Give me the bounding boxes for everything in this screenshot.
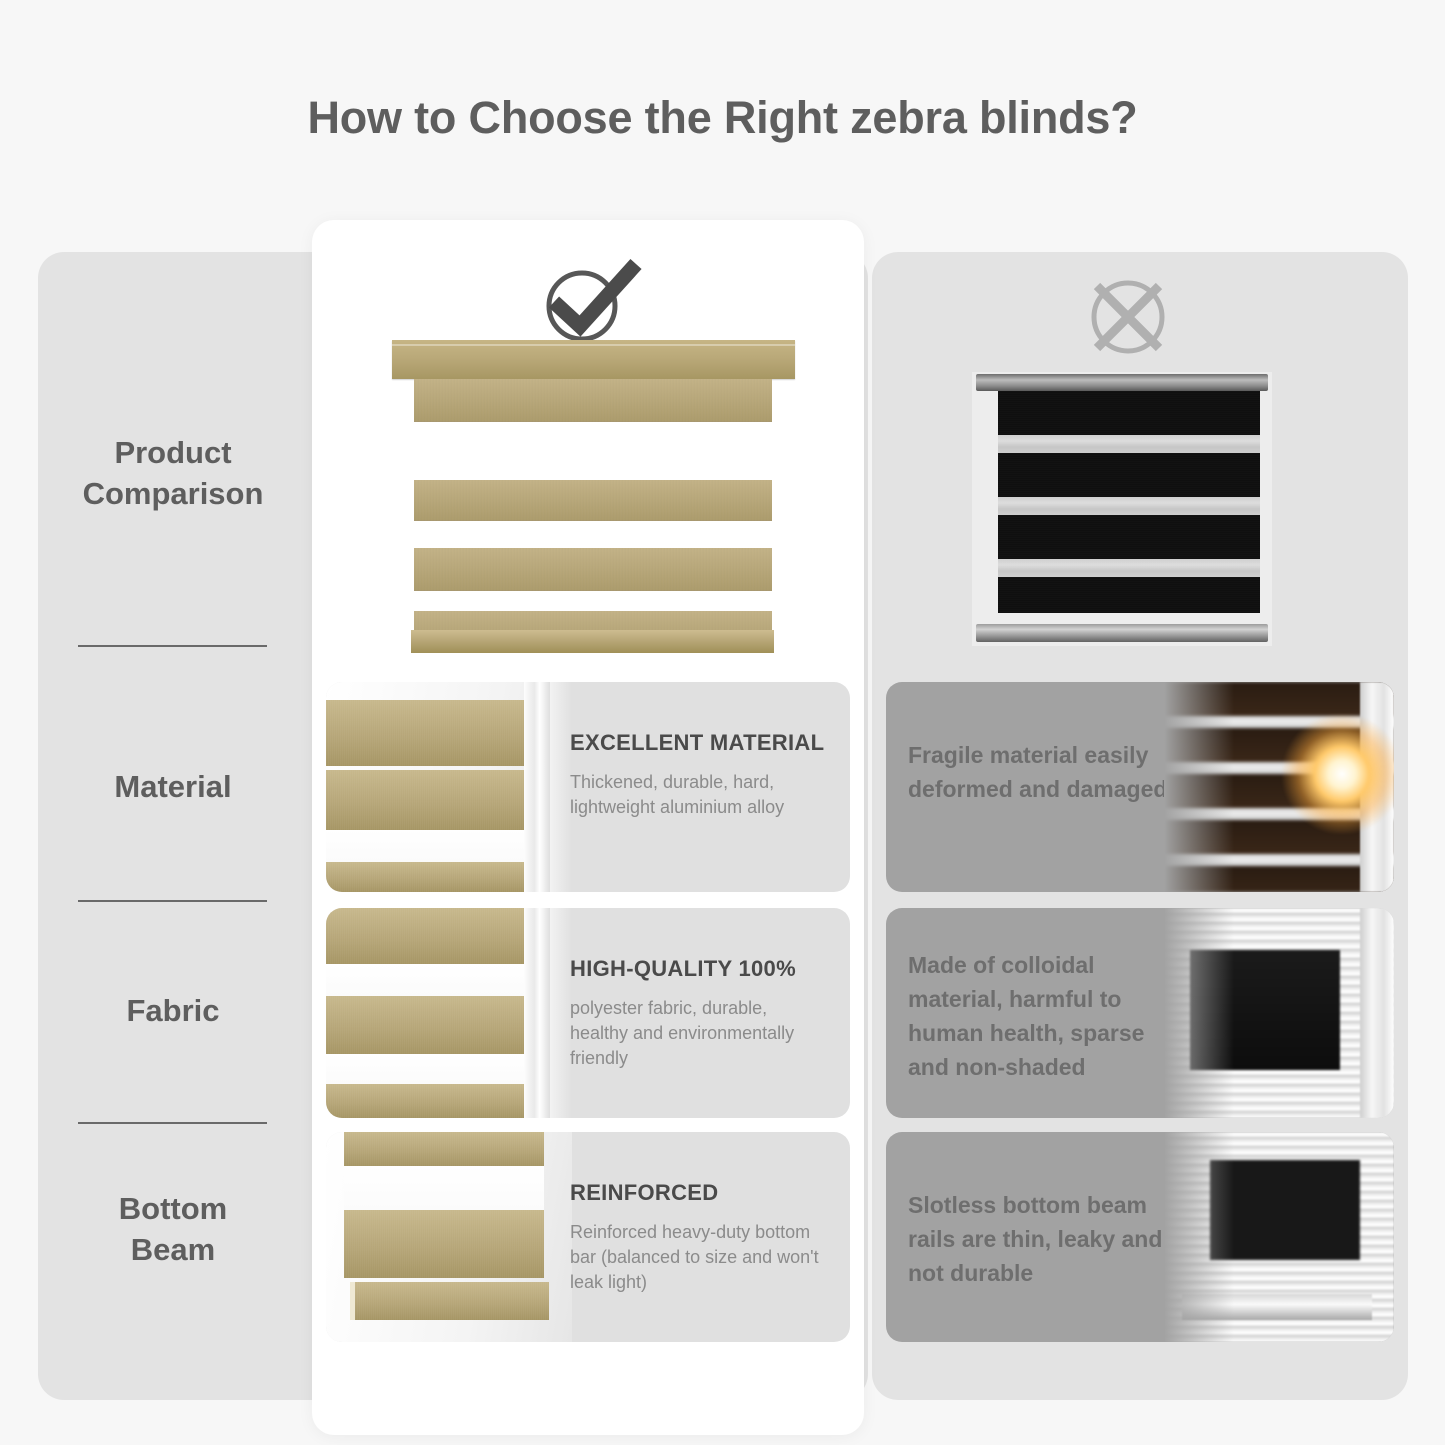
page-title: How to Choose the Right zebra blinds? <box>0 92 1445 144</box>
drawback-image-sunlit-window <box>1164 682 1394 892</box>
window-frame-edge <box>524 682 550 892</box>
cross-circle-icon <box>1083 272 1173 362</box>
blind-slat <box>414 379 772 422</box>
feature-body: Reinforced heavy-duty bottom bar (balanc… <box>570 1220 830 1295</box>
row-label-line1: Material <box>58 766 288 807</box>
row-label-product-comparison: Product Comparison <box>58 432 288 514</box>
blind-bottom-bar <box>411 630 774 653</box>
hero-image-tan-zebra-blind <box>392 340 795 665</box>
image-fade-mask <box>1164 682 1234 892</box>
blind-sheer <box>326 830 526 862</box>
blind-slat <box>326 1084 526 1118</box>
row-label-material: Material <box>58 766 288 807</box>
drawback-card-fabric: Made of colloidal material, harmful to h… <box>886 908 1394 1118</box>
row-divider <box>78 900 267 902</box>
blind-slat <box>326 908 526 964</box>
sun-glare <box>1282 714 1394 834</box>
feature-image-tan-blind <box>326 682 572 892</box>
blind-slat <box>326 862 526 892</box>
row-label-line1: Product <box>58 432 288 473</box>
feature-title: REINFORCED <box>570 1180 830 1206</box>
check-circle-icon <box>536 256 648 344</box>
feature-text-block: EXCELLENT MATERIAL Thickened, durable, h… <box>570 730 830 820</box>
feature-card-good-material: EXCELLENT MATERIAL Thickened, durable, h… <box>326 682 850 892</box>
drawback-text: Slotless bottom beam rails are thin, lea… <box>908 1188 1178 1290</box>
blind-slat <box>414 480 772 521</box>
feature-text-block: HIGH-QUALITY 100% polyester fabric, dura… <box>570 956 830 1071</box>
drawback-card-bottom-beam: Slotless bottom beam rails are thin, lea… <box>886 1132 1394 1342</box>
blind-slat <box>414 548 772 591</box>
drawback-card-material: Fragile material easily deformed and dam… <box>886 682 1394 892</box>
feature-image-tan-blind <box>326 908 572 1118</box>
blind-fabric <box>998 391 1260 613</box>
row-label-line1: Fabric <box>58 990 288 1031</box>
drawback-text: Made of colloidal material, harmful to h… <box>908 948 1178 1084</box>
blind-slat <box>344 1132 544 1166</box>
window-frame-edge <box>550 682 572 892</box>
feature-title: EXCELLENT MATERIAL <box>570 730 830 756</box>
row-divider <box>78 645 267 647</box>
drawback-image-thin-rail <box>1164 1132 1394 1342</box>
row-label-bottom-beam: Bottom Beam <box>58 1188 288 1270</box>
feature-image-bottom-bar <box>326 1132 572 1342</box>
blind-sheer <box>344 1166 544 1210</box>
blind-slat <box>344 1210 544 1278</box>
feature-body: Thickened, durable, hard, lightweight al… <box>570 770 830 820</box>
row-label-line1: Bottom <box>58 1188 288 1229</box>
row-label-fabric: Fabric <box>58 990 288 1031</box>
blind-sheer <box>326 1054 526 1084</box>
feature-body: polyester fabric, durable, healthy and e… <box>570 996 830 1071</box>
blind-headrail <box>976 374 1268 391</box>
blind-slat <box>326 770 526 830</box>
row-label-line2: Comparison <box>58 473 288 514</box>
blind-sheer <box>326 964 526 996</box>
row-label-line2: Beam <box>58 1229 288 1270</box>
feature-title: HIGH-QUALITY 100% <box>570 956 830 982</box>
blind-headrail <box>392 340 795 379</box>
blind-slat <box>326 700 526 766</box>
blind-bottom-bar <box>350 1282 549 1320</box>
window-frame-edge <box>550 908 572 1118</box>
image-fade-mask <box>1164 908 1234 1118</box>
feature-card-good-bottom-beam: REINFORCED Reinforced heavy-duty bottom … <box>326 1132 850 1342</box>
feature-text-block: REINFORCED Reinforced heavy-duty bottom … <box>570 1180 830 1295</box>
blind-slat <box>326 996 526 1054</box>
window-frame-edge <box>1360 908 1394 1118</box>
feature-card-good-fabric: HIGH-QUALITY 100% polyester fabric, dura… <box>326 908 850 1118</box>
row-divider <box>78 1122 267 1124</box>
drawback-text: Fragile material easily deformed and dam… <box>908 738 1178 806</box>
drawback-image-sheer-blind <box>1164 908 1394 1118</box>
hero-image-black-zebra-blind <box>972 372 1272 646</box>
blind-bottom-bar <box>976 624 1268 642</box>
image-fade-mask <box>1164 1132 1234 1342</box>
window-frame-edge <box>524 908 550 1118</box>
